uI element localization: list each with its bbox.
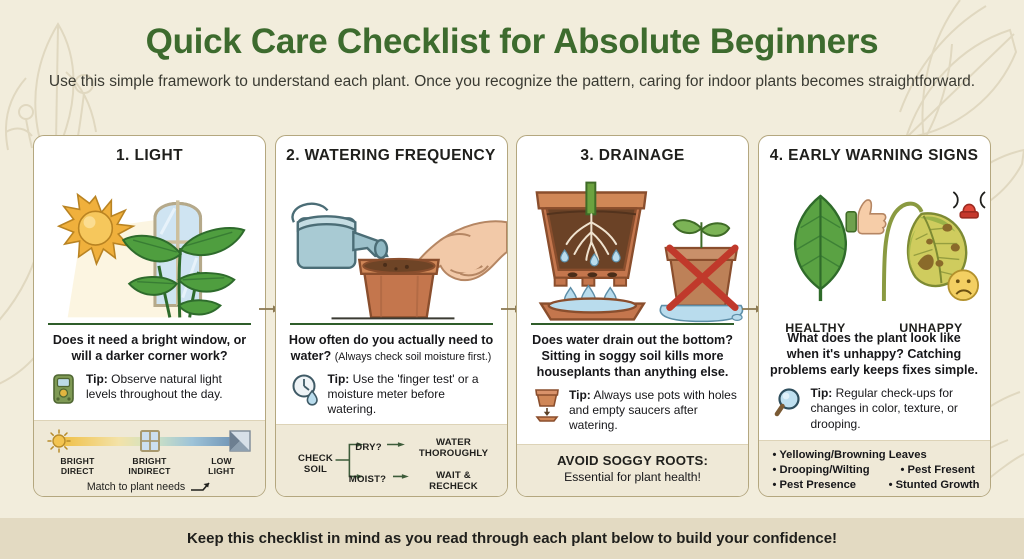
card-early-warning-signs[interactable]: 4. EARLY WARNING SIGNS: [758, 135, 991, 497]
bullet-stunted-growth: • Stunted Growth: [889, 478, 980, 493]
light-spectrum-bar: [46, 428, 253, 454]
tip-body-watering: Use the 'finger test' or a moisture mete…: [328, 372, 479, 416]
list-item: • Drooping/Wilting • Pest Fresent: [773, 463, 980, 478]
header: Quick Care Checklist for Absolute Beginn…: [0, 0, 1024, 94]
card-connector-3: [749, 135, 758, 497]
tip-body-early-warning: Regular check-ups for changes in color, …: [811, 386, 958, 430]
tip-text-light: Tip: Observe natural light levels throug…: [86, 372, 254, 402]
thumbs-up-icon: [846, 200, 885, 234]
drainage-pot-saucer-illustration: [517, 178, 748, 323]
leaf-state-labels: HEALTHY UNHAPPY: [759, 321, 990, 335]
bullet-yellowing-browning-leaves: • Yellowing/Browning Leaves: [773, 448, 927, 463]
light-meter-icon: [49, 372, 79, 406]
sun-icon: [46, 428, 72, 454]
card-question-watering: How often do you actually need to water?…: [287, 332, 496, 365]
tip-row-watering: Tip: Use the 'finger test' or a moisture…: [287, 372, 496, 417]
list-item: • Yellowing/Browning Leaves: [773, 448, 980, 463]
card-body-watering: How often do you actually need to water?…: [276, 325, 507, 424]
card-question-light: Does it need a bright window, or will a …: [45, 332, 254, 364]
tip-label-watering: Tip:: [328, 372, 350, 386]
label-unhappy: UNHAPPY: [899, 321, 962, 335]
watering-can-finger-test-pot-illustration: [276, 178, 507, 323]
spectrum-labels: BRIGHTDIRECT BRIGHTINDIRECT LOWLIGHT: [42, 456, 257, 476]
callout-heading: AVOID SOGGY ROOTS:: [525, 453, 740, 468]
card-title-early-warning: 4. EARLY WARNING SIGNS: [759, 136, 990, 178]
light-spectrum-footer: BRIGHTDIRECT BRIGHTINDIRECT LOWLIGHT Mat…: [34, 420, 265, 496]
spectrum-label-low-light: LOWLIGHT: [186, 456, 257, 476]
tip-text-watering: Tip: Use the 'finger test' or a moisture…: [328, 372, 496, 417]
page-subtitle: Use this simple framework to understand …: [0, 71, 1024, 93]
flow-result-wait-recheck: WAIT &RECHECK: [406, 471, 502, 492]
tip-row-drainage: Tip: Always use pots with holes and empt…: [528, 388, 737, 433]
spectrum-caption: Match to plant needs: [87, 481, 185, 493]
tip-label-drainage: Tip:: [569, 388, 591, 402]
healthy-vs-unhappy-leaf-illustration: HEALTHY UNHAPPY: [759, 178, 990, 323]
page-title: Quick Care Checklist for Absolute Beginn…: [0, 22, 1024, 62]
magnifier-icon: [774, 386, 804, 420]
bullet-pest-presence: • Pest Presence: [773, 478, 889, 493]
watering-decision-flow-footer: CHECKSOIL DRY? MOIST? WATERTHOROUGHLY WA…: [276, 424, 507, 496]
decision-flow-diagram: CHECKSOIL DRY? MOIST? WATERTHOROUGHLY WA…: [284, 430, 499, 490]
bullet-drooping-wilting: • Drooping/Wilting: [773, 463, 901, 478]
window-icon: [137, 428, 163, 454]
warning-signs-list: • Yellowing/Browning Leaves • Drooping/W…: [767, 446, 982, 493]
card-question-drainage: Does water drain out the bottom? Sitting…: [528, 332, 737, 380]
tip-text-early-warning: Tip: Regular check-ups for changes in co…: [811, 386, 979, 431]
checklist-cards-row: 1. LIGHT: [33, 135, 991, 497]
bullet-pest-fresent: • Pest Fresent: [901, 463, 975, 478]
list-item: • Pest Presence • Stunted Growth: [773, 478, 980, 493]
card-body-early-warning: What does the plant look like when it's …: [759, 323, 990, 440]
dark-corner-icon: [227, 428, 253, 454]
callout-subtext: Essential for plant health!: [525, 470, 740, 484]
label-healthy: HEALTHY: [785, 321, 845, 335]
spectrum-label-bright-indirect: BRIGHTINDIRECT: [114, 456, 185, 476]
tip-body-drainage: Always use pots with holes and empty sau…: [569, 388, 737, 432]
sun-window-plant-illustration: [34, 178, 265, 323]
pot-with-saucer-icon: [532, 388, 562, 422]
card-connector-1: [266, 135, 275, 497]
card-title-watering: 2. WATERING FREQUENCY: [276, 136, 507, 178]
alert-siren-icon: [953, 192, 985, 218]
footer-banner: Keep this checklist in mind as you read …: [0, 518, 1024, 559]
tip-label-light: Tip:: [86, 372, 108, 386]
card-connector-2: [508, 135, 517, 497]
flow-condition-dry: DRY?: [347, 443, 391, 454]
card-light[interactable]: 1. LIGHT: [33, 135, 266, 497]
clock-droplet-icon: [291, 372, 321, 406]
match-to-plant-needs-row: Match to plant needs: [42, 480, 257, 494]
warning-signs-footer: • Yellowing/Browning Leaves • Drooping/W…: [759, 440, 990, 496]
flow-condition-moist: MOIST?: [342, 475, 394, 486]
tip-row-light: Tip: Observe natural light levels throug…: [45, 372, 254, 406]
sad-face-icon: [948, 270, 978, 300]
drainage-callout-footer: AVOID SOGGY ROOTS: Essential for plant h…: [517, 444, 748, 496]
arrow-up-right-icon: [190, 480, 212, 494]
flow-result-water-thoroughly: WATERTHOROUGHLY: [406, 438, 502, 459]
card-body-drainage: Does water drain out the bottom? Sitting…: [517, 325, 748, 444]
card-title-light: 1. LIGHT: [34, 136, 265, 178]
tip-label-early-warning: Tip:: [811, 386, 833, 400]
card-body-light: Does it need a bright window, or will a …: [34, 325, 265, 420]
card-title-drainage: 3. DRAINAGE: [517, 136, 748, 178]
card-question-early-warning: What does the plant look like when it's …: [770, 330, 979, 378]
footer-text: Keep this checklist in mind as you read …: [187, 530, 837, 547]
tip-text-drainage: Tip: Always use pots with holes and empt…: [569, 388, 737, 433]
card-watering-frequency[interactable]: 2. WATERING FREQUENCY: [275, 135, 508, 497]
card-drainage[interactable]: 3. DRAINAGE: [516, 135, 749, 497]
flow-start-check-soil: CHECKSOIL: [288, 454, 344, 475]
spectrum-label-bright-direct: BRIGHTDIRECT: [42, 456, 113, 476]
card-question-note-watering: (Always check soil moisture first.): [335, 351, 492, 363]
tip-row-early-warning: Tip: Regular check-ups for changes in co…: [770, 386, 979, 431]
